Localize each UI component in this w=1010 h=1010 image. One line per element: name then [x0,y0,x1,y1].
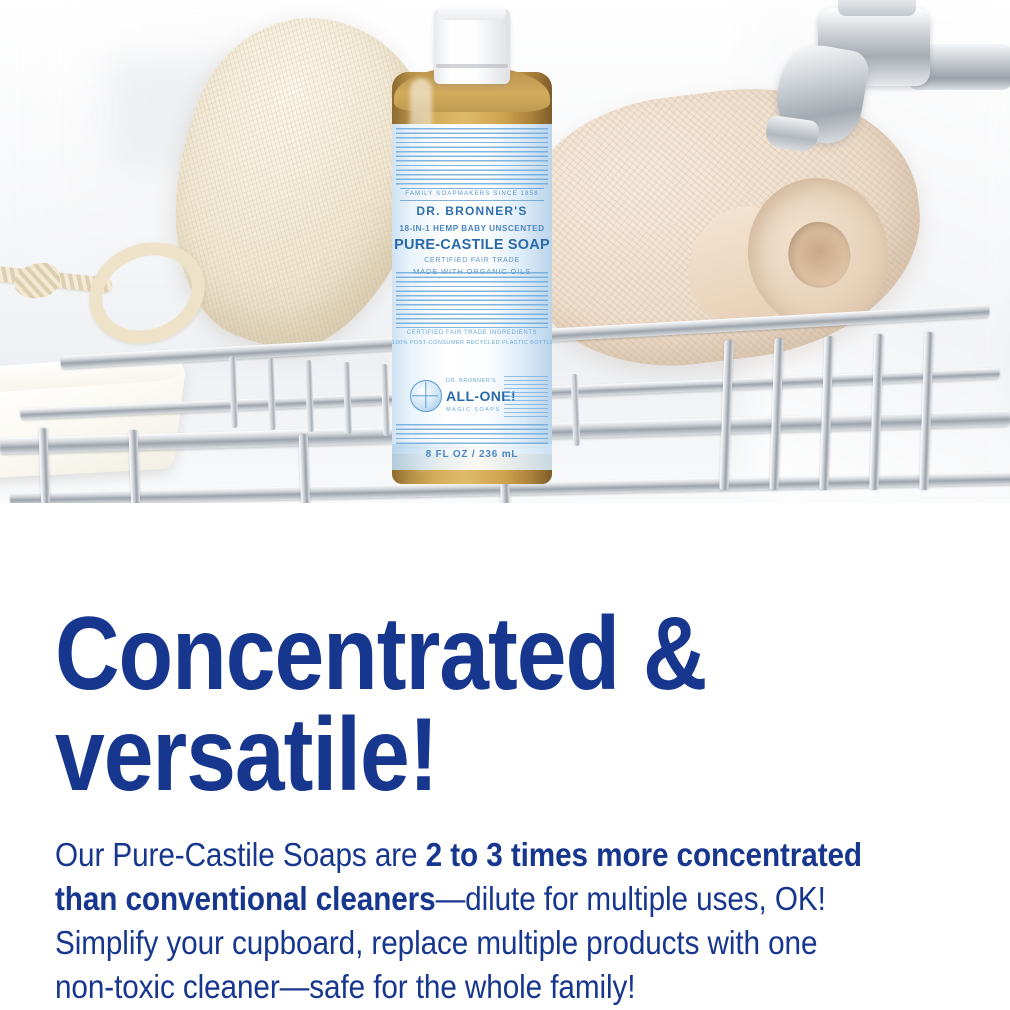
label-divider [400,188,544,189]
label-certification: CERTIFIED FAIR TRADE [392,257,552,264]
bottle-label: FAMILY SOAPMAKERS SINCE 1858 DR. BRONNER… [392,124,552,454]
label-fine-print-mid [396,272,548,328]
label-product-name: PURE-CASTILE SOAP [392,237,552,253]
bottle-cap-seam [436,64,508,68]
soap-bottle: FAMILY SOAPMAKERS SINCE 1858 DR. BRONNER… [392,8,552,488]
headline-line-2: versatile! [55,705,829,806]
basket-wire [769,338,783,490]
label-fine-print-top [396,128,548,186]
product-photo: FAMILY SOAPMAKERS SINCE 1858 DR. BRONNER… [0,0,1010,503]
content-section: Concentrated & versatile! Our Pure-Casti… [0,503,1010,1010]
label-variant: 18-IN-1 HEMP BABY UNSCENTED [392,224,552,233]
label-fine-print-side [504,376,548,418]
label-family-line: FAMILY SOAPMAKERS SINCE 1858 [392,190,552,197]
basket-wire [719,340,733,490]
page-root: FAMILY SOAPMAKERS SINCE 1858 DR. BRONNER… [0,0,1010,1010]
label-brand-name: DR. BRONNER'S [392,204,552,218]
label-recycled-plastic: 100% POST-CONSUMER RECYCLED PLASTIC BOTT… [392,340,552,346]
basket-wire [819,336,833,490]
label-fair-ingredients: CERTIFIED FAIR TRADE INGREDIENTS [392,330,552,336]
globe-icon [410,380,442,412]
page-title: Concentrated & versatile! [55,604,829,806]
towel-roll-core [783,217,856,293]
label-divider [400,200,544,201]
label-size-text: 8 FL OZ / 236 mL [392,449,552,460]
body-text-part-1: Our Pure-Castile Soaps are [55,836,426,873]
basket-slat [267,358,277,430]
basket-slat [381,364,391,436]
body-paragraph: Our Pure-Castile Soaps are 2 to 3 times … [55,833,879,1009]
basket-wire [869,334,883,490]
rope-loop [0,268,212,290]
basket-slat [229,356,239,428]
basket-slat [305,360,315,432]
bottle-cap-top [438,4,506,20]
basket-slat [343,362,353,434]
basket-wire [919,332,934,490]
faucet-cap [838,0,916,16]
headline-line-1: Concentrated & [55,604,829,705]
